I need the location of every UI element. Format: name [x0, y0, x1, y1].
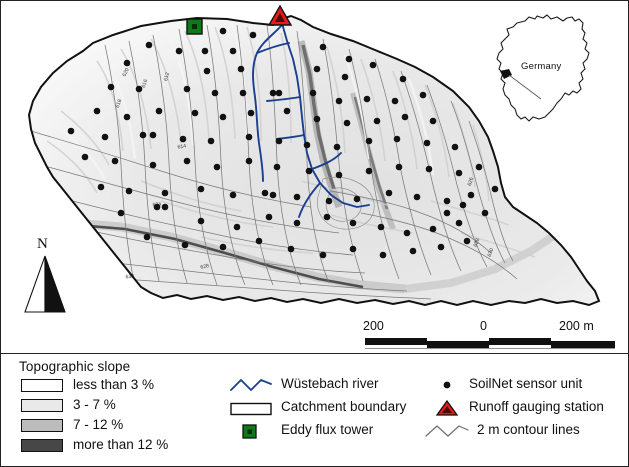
eddy-flux-tower-marker	[187, 19, 202, 34]
slope-legend-title: Topographic slope	[19, 359, 130, 374]
scale-bar: 200 0 200 m	[363, 319, 613, 352]
scale-label-center: 0	[480, 319, 487, 333]
slope-swatch-0	[21, 379, 63, 392]
gauging-legend-label: Runoff gauging station	[469, 399, 604, 414]
boundary-legend-label: Catchment boundary	[281, 399, 406, 414]
scale-label-left: 200	[363, 319, 384, 333]
contour-label: 614	[177, 143, 187, 150]
slope-swatch-2	[21, 419, 63, 432]
river-legend-label: Wüstebach river	[281, 376, 379, 391]
map-legend: Topographic slope less than 3 % 3 - 7 % …	[1, 354, 628, 466]
sensor-dot-icon	[429, 376, 465, 394]
germany-inset-map: Germany	[479, 13, 619, 131]
slope-label-1: 3 - 7 %	[73, 397, 116, 412]
slope-label-0: less than 3 %	[73, 377, 154, 392]
boundary-rect-icon	[229, 400, 273, 418]
scale-label-right: 200 m	[559, 319, 594, 333]
eddy-tower-square-icon	[229, 422, 273, 440]
slope-swatch-1	[21, 399, 63, 412]
gauging-triangle-icon	[429, 398, 465, 418]
north-arrow-label: N	[37, 236, 48, 253]
slope-swatch-3	[21, 439, 63, 452]
contour-line-icon	[423, 422, 471, 440]
map-canvas: 620618616612614624628630626628630	[1, 1, 628, 352]
inset-country-label: Germany	[521, 61, 561, 72]
map-figure: 620618616612614624628630626628630	[0, 0, 629, 467]
eddy-tower-legend-label: Eddy flux tower	[281, 422, 373, 437]
contour-legend-label: 2 m contour lines	[477, 422, 580, 437]
north-arrow: N	[19, 236, 75, 316]
sensor-legend-label: SoilNet sensor unit	[469, 376, 582, 391]
slope-label-3: more than 12 %	[73, 437, 168, 452]
slope-label-2: 7 - 12 %	[73, 417, 123, 432]
river-line-icon	[229, 376, 273, 394]
